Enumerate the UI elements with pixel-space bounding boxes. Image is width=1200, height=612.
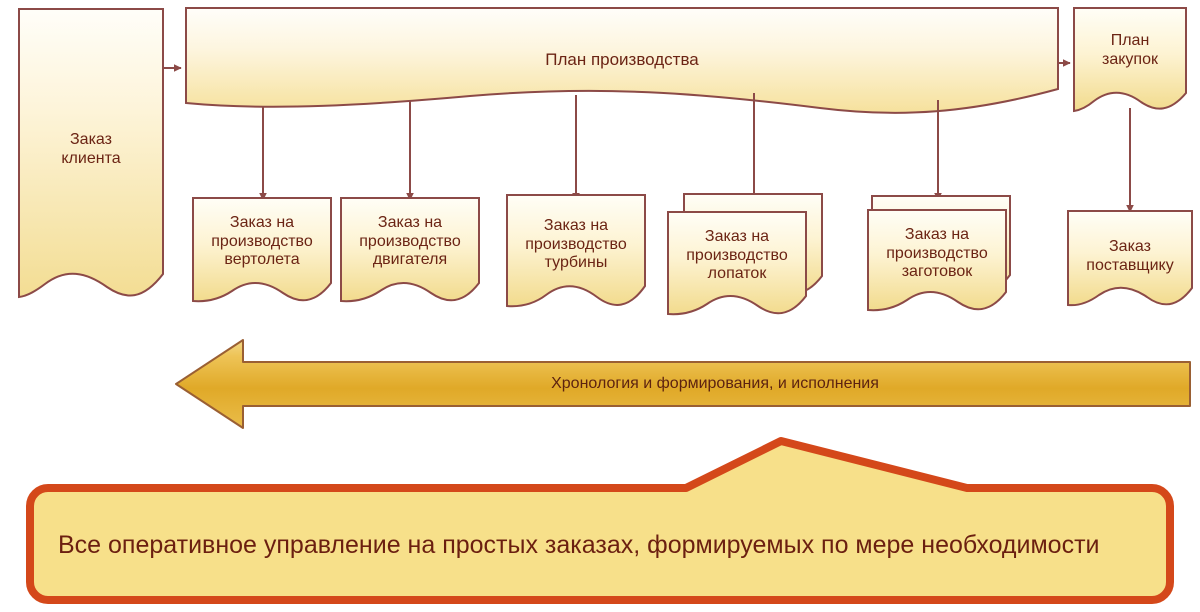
node-order-blades[interactable] <box>668 212 806 314</box>
node-order-helicopter[interactable] <box>193 198 331 301</box>
node-production-plan[interactable] <box>186 8 1058 113</box>
node-purchase-plan[interactable] <box>1074 8 1186 111</box>
diagram-canvas: Заказ клиента План производства План зак… <box>0 0 1200 612</box>
node-order-engine[interactable] <box>341 198 479 301</box>
callout-text: Все оперативное управление на простых за… <box>58 498 1156 594</box>
node-order-turbine[interactable] <box>507 195 645 306</box>
timeline-arrow[interactable] <box>176 340 1190 428</box>
node-client-order[interactable] <box>19 9 163 297</box>
node-supplier-order[interactable] <box>1068 211 1192 305</box>
node-order-blanks[interactable] <box>868 210 1006 310</box>
